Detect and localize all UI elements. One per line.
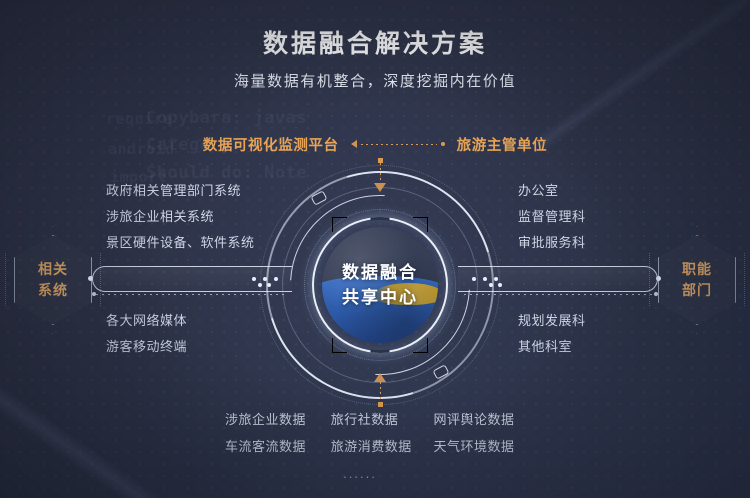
top-label-row: 数据可视化监测平台 旅游主管单位 — [0, 133, 750, 155]
list-item: 车流客流数据 — [225, 433, 323, 460]
hexagon-label-group: 相关 系统 — [14, 235, 92, 325]
hexagon-label-line2: 部门 — [682, 280, 712, 301]
list-item: 旅游消费数据 — [323, 433, 426, 460]
center-label-line1: 数据融合 — [342, 260, 418, 285]
label-visualization-platform: 数据可视化监测平台 — [203, 134, 339, 155]
infographic-canvas: Copybara: javas Category: data Should do… — [0, 0, 750, 498]
source-systems-upper-list: 政府相关管理部门系统 涉旅企业相关系统 景区硬件设备、软件系统 — [106, 178, 255, 256]
line-end-dot-icon — [441, 142, 445, 146]
connector-bottom-arrow — [374, 373, 386, 407]
list-item: 天气环境数据 — [426, 433, 535, 460]
list-item: 网评舆论数据 — [426, 406, 535, 433]
list-item: 办公室 — [518, 178, 586, 204]
background-watermark-text: Copybara: javas — [146, 108, 307, 128]
list-item: 审批服务科 — [518, 230, 586, 256]
list-item: 监督管理科 — [518, 204, 586, 230]
page-subtitle: 海量数据有机整合，深度挖掘内在价值 — [0, 70, 750, 91]
list-item: 游客移动终端 — [106, 334, 187, 360]
hexagon-label-group: 职能 部门 — [658, 235, 736, 325]
list-item: 政府相关管理部门系统 — [106, 178, 255, 204]
more-items-indicator: ...... — [225, 466, 495, 481]
table-row: 涉旅企业数据 旅行社数据 网评舆论数据 — [225, 406, 535, 433]
dotted-arrow-left-icon — [351, 140, 445, 148]
data-types-grid: 涉旅企业数据 旅行社数据 网评舆论数据 车流客流数据 旅游消费数据 天气环境数据… — [225, 406, 535, 481]
arrow-head-icon — [351, 140, 357, 148]
arrow-up-icon — [374, 373, 386, 382]
dotted-line-decor — [380, 163, 381, 183]
label-tourism-authority: 旅游主管单位 — [457, 134, 548, 155]
ring-connector-left — [258, 283, 271, 287]
hexagon-label-line1: 职能 — [682, 259, 712, 280]
center-label-line2: 共享中心 — [342, 285, 418, 310]
hexagon-related-systems: 相关 系统 — [14, 235, 92, 325]
hexagon-functional-departments: 职能 部门 — [658, 235, 736, 325]
light-streak-decor — [0, 338, 180, 498]
list-item: 涉旅企业相关系统 — [106, 204, 255, 230]
background-watermark-text: require — [106, 110, 173, 128]
departments-upper-list: 办公室 监督管理科 审批服务科 — [518, 178, 586, 256]
departments-lower-list: 规划发展科 其他科室 — [518, 308, 586, 360]
ring-connector-right — [489, 283, 502, 287]
dotted-line-decor — [361, 144, 437, 145]
center-label-group: 数据融合 共享中心 — [322, 227, 438, 343]
dashed-line-dot-icon — [654, 292, 658, 296]
list-item: 景区硬件设备、软件系统 — [106, 230, 255, 256]
source-systems-lower-list: 各大网络媒体 游客移动终端 — [106, 308, 187, 360]
connector-top-arrow — [374, 158, 386, 192]
arrow-down-icon — [374, 183, 386, 192]
list-item: 其他科室 — [518, 334, 586, 360]
hexagon-label-line2: 系统 — [38, 280, 68, 301]
central-hub-graphic: 数据融合 共享中心 — [260, 165, 500, 405]
list-item: 各大网络媒体 — [106, 308, 187, 334]
list-item: 旅行社数据 — [323, 406, 426, 433]
dashed-line-left — [96, 294, 286, 295]
dotted-line-decor — [380, 382, 381, 402]
page-title: 数据融合解决方案 — [0, 24, 750, 60]
list-item: 涉旅企业数据 — [225, 406, 323, 433]
hexagon-label-line1: 相关 — [38, 259, 68, 280]
table-row: 车流客流数据 旅游消费数据 天气环境数据 — [225, 433, 535, 460]
list-item: 规划发展科 — [518, 308, 586, 334]
